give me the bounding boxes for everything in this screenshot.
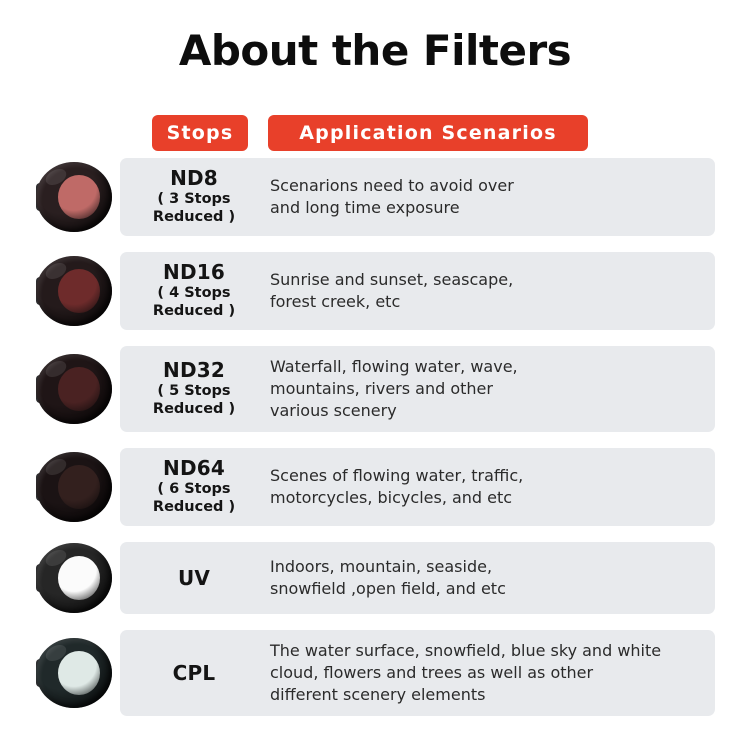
lens-glass <box>58 269 100 313</box>
nd32-filter-image <box>30 353 114 425</box>
scenario-text: The water surface, snowfield, blue sky a… <box>270 640 661 705</box>
filter-stops-detail: ( 3 Stops Reduced ) <box>153 191 235 226</box>
table-row: ND16( 4 Stops Reduced )Sunrise and sunse… <box>0 252 750 330</box>
table-row: ND8( 3 Stops Reduced )Scenarions need to… <box>0 158 750 236</box>
stops-cell: ND64( 6 Stops Reduced ) <box>120 448 268 526</box>
scenario-cell: Scenarions need to avoid over and long t… <box>270 158 712 236</box>
filter-name: UV <box>178 567 210 590</box>
filter-stops-detail: ( 6 Stops Reduced ) <box>153 481 235 516</box>
scenario-text: Sunrise and sunset, seascape, forest cre… <box>270 269 513 313</box>
table-row: ND32( 5 Stops Reduced )Waterfall, flowin… <box>0 346 750 432</box>
filter-table: ND8( 3 Stops Reduced )Scenarions need to… <box>0 158 750 732</box>
stops-cell: ND8( 3 Stops Reduced ) <box>120 158 268 236</box>
filter-name: ND64 <box>163 457 225 480</box>
scenario-text: Scenes of flowing water, traffic, motorc… <box>270 465 523 509</box>
cpl-filter-image <box>30 637 114 709</box>
filter-name: ND16 <box>163 261 225 284</box>
nd16-filter-image <box>30 255 114 327</box>
filter-stops-detail: ( 4 Stops Reduced ) <box>153 285 235 320</box>
scenario-text: Scenarions need to avoid over and long t… <box>270 175 514 219</box>
lens-glass <box>58 556 100 600</box>
header-application-scenarios: Application Scenarios <box>268 115 588 151</box>
scenario-cell: Waterfall, flowing water, wave, mountain… <box>270 346 712 432</box>
nd8-filter-image <box>30 161 114 233</box>
stops-cell: ND32( 5 Stops Reduced ) <box>120 346 268 432</box>
scenario-text: Indoors, mountain, seaside, snowfield ,o… <box>270 556 506 600</box>
table-row: CPLThe water surface, snowfield, blue sk… <box>0 630 750 716</box>
nd64-filter-image <box>30 451 114 523</box>
stops-cell: UV <box>120 542 268 614</box>
lens-glass <box>58 651 100 695</box>
lens-glass <box>58 465 100 509</box>
about-the-filters-page: About the Filters Stops Application Scen… <box>0 0 750 750</box>
stops-cell: ND16( 4 Stops Reduced ) <box>120 252 268 330</box>
scenario-cell: Scenes of flowing water, traffic, motorc… <box>270 448 712 526</box>
table-header: Stops Application Scenarios <box>0 115 750 151</box>
header-stops: Stops <box>152 115 248 151</box>
table-row: ND64( 6 Stops Reduced )Scenes of flowing… <box>0 448 750 526</box>
table-row: UVIndoors, mountain, seaside, snowfield … <box>0 542 750 614</box>
page-title: About the Filters <box>0 26 750 76</box>
scenario-cell: Indoors, mountain, seaside, snowfield ,o… <box>270 542 712 614</box>
filter-name: ND8 <box>170 167 218 190</box>
scenario-cell: The water surface, snowfield, blue sky a… <box>270 630 712 716</box>
lens-glass <box>58 367 100 411</box>
scenario-cell: Sunrise and sunset, seascape, forest cre… <box>270 252 712 330</box>
filter-stops-detail: ( 5 Stops Reduced ) <box>153 383 235 418</box>
scenario-text: Waterfall, flowing water, wave, mountain… <box>270 356 518 421</box>
stops-cell: CPL <box>120 630 268 716</box>
filter-name: ND32 <box>163 359 225 382</box>
lens-glass <box>58 175 100 219</box>
uv-filter-image <box>30 542 114 614</box>
filter-name: CPL <box>173 662 216 685</box>
